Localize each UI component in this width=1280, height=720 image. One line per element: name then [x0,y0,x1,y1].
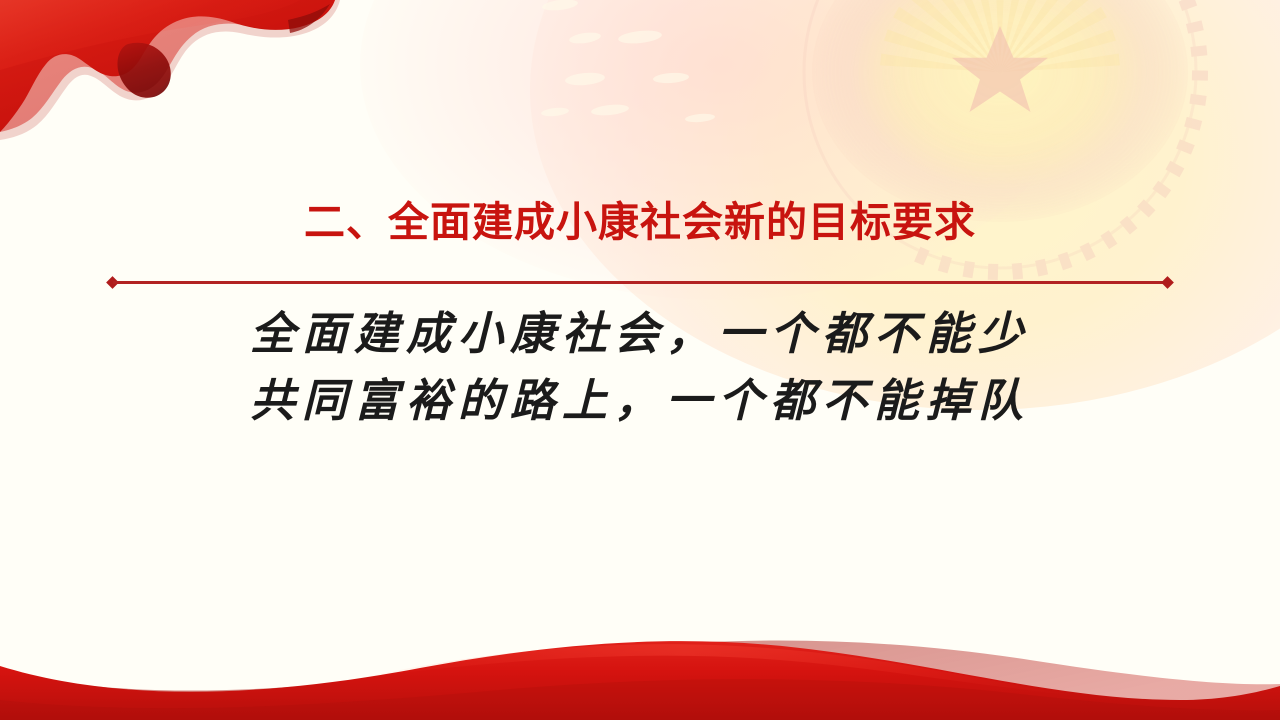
emblem-rays [880,0,1120,78]
presentation-slide: 二、全面建成小康社会新的目标要求 全面建成小康社会，一个都不能少 共同富裕的路上… [0,0,1280,720]
ribbon-secondary-fold [0,0,335,132]
ribbon-sheen [0,0,300,70]
body-line-2: 共同富裕的路上，一个都不能掉队 [0,367,1280,434]
title-block: 二、全面建成小康社会新的目标要求 [0,196,1280,248]
page-title: 二、全面建成小康社会新的目标要求 [0,196,1280,248]
ribbon-tip-detail [288,4,330,33]
five-pointed-star-icon [952,26,1048,112]
divider-diamond-right-icon [1161,276,1174,289]
wave-fold-line [0,679,1280,720]
ribbon-main-shape [0,0,335,132]
ribbon-dark-fold [117,43,170,98]
body-text-block: 全面建成小康社会，一个都不能少 共同富裕的路上，一个都不能掉队 [0,300,1280,434]
ribbon-shadow-edge [0,0,340,140]
wave-main-layer [0,641,1280,720]
section-divider [108,276,1172,289]
background-glow-pink [360,0,1080,300]
grain-highlights [541,0,716,123]
wave-crest-highlight [360,644,1080,696]
body-line-1: 全面建成小康社会，一个都不能少 [0,300,1280,367]
divider-line [113,281,1167,284]
wave-back-layer [0,641,1280,720]
